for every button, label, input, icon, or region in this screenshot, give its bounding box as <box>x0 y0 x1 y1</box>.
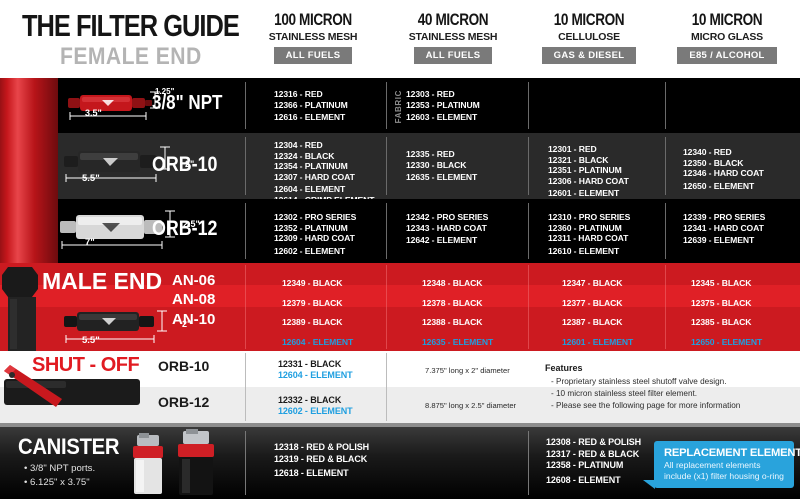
part-number: 12346 - HARD COAT <box>683 168 764 179</box>
callout-line: include (x1) filter housing o-ring <box>664 471 786 482</box>
row-label-an10: AN-10 <box>172 311 215 328</box>
column-divider <box>245 137 246 195</box>
column-material-label: CELLULOSE <box>522 31 656 43</box>
column-material-label: MICRO GLASS <box>660 31 794 43</box>
part-number: 12389 - BLACK <box>282 313 353 333</box>
part-number-element: 12650 - ELEMENT <box>691 333 762 353</box>
cell-orb10-10micron-microglass: 12340 - RED 12350 - BLACK 12346 - HARD C… <box>683 147 764 191</box>
page-subtitle: FEMALE END <box>60 43 202 71</box>
part-number-element: 12601 - ELEMENT <box>562 333 633 353</box>
cell-npt-100micron: 12316 - RED 12366 - PLATINUM 12616 - ELE… <box>274 89 348 123</box>
part-number: 12378 - BLACK <box>422 294 493 314</box>
row-orb-10: 2" 5.5" ORB-10 12304 - RED 12324 - BLACK… <box>0 133 800 199</box>
column-fuel-badge: GAS & DIESEL <box>542 47 637 64</box>
column-divider <box>245 203 246 259</box>
column-divider <box>386 82 387 129</box>
column-divider <box>665 203 666 259</box>
row-left-panel: 2.5" 7" ORB-12 <box>0 199 245 263</box>
part-number-element: 12635 - ELEMENT <box>422 333 493 353</box>
red-bottle-image <box>0 199 58 263</box>
part-number: 12347 - BLACK <box>562 274 633 294</box>
part-number-element: 12635 - ELEMENT <box>406 172 477 183</box>
replacement-elements-callout: REPLACEMENT ELEMENTS All replacement ele… <box>654 441 794 488</box>
part-number: 12318 - RED & POLISH <box>274 442 369 454</box>
part-number: 12379 - BLACK <box>282 294 353 314</box>
shutoff-dimension-orb12: 8.875" long x 2.5" diameter <box>425 401 516 410</box>
part-number: 12341 - HARD COAT <box>683 223 765 234</box>
section-label-male-end: MALE END <box>42 268 162 295</box>
row-label-orb10: ORB-10 <box>152 153 217 177</box>
column-micron-label: 40 MICRON <box>399 10 506 30</box>
column-micron-label: 10 MICRON <box>673 10 780 30</box>
cell-male-100micron: 12349 - BLACK 12379 - BLACK 12389 - BLAC… <box>282 274 353 352</box>
column-divider <box>245 265 246 349</box>
part-number: 12335 - RED <box>406 149 477 160</box>
part-number-element: 12642 - ELEMENT <box>406 235 488 246</box>
part-number: 12350 - BLACK <box>683 158 764 169</box>
dimension-length-label: 3.5" <box>85 108 102 118</box>
dimension-length-label: 5.5" <box>82 173 100 184</box>
features-item: - Please see the following page for more… <box>551 401 740 410</box>
red-bottle-image <box>0 133 58 199</box>
part-number: 12332 - BLACK <box>278 395 353 406</box>
canister-bullet: • 6.125" x 3.75" <box>24 477 90 488</box>
part-number: 12304 - RED <box>274 140 374 151</box>
cell-male-10micron-cellulose: 12347 - BLACK 12377 - BLACK 12387 - BLAC… <box>562 274 633 352</box>
column-micron-label: 100 MICRON <box>259 10 366 30</box>
dimension-lines-male <box>60 303 180 347</box>
part-number-element: 12604 - ELEMENT <box>278 370 353 381</box>
part-number: 12342 - PRO SERIES <box>406 212 488 223</box>
cell-orb12-10micron-cellulose: 12310 - PRO SERIES 12360 - PLATINUM 1231… <box>548 212 630 256</box>
cell-npt-40micron: 12303 - RED 12353 - PLATINUM 12603 - ELE… <box>406 89 480 123</box>
cell-male-40micron: 12348 - BLACK 12378 - BLACK 12388 - BLAC… <box>422 274 493 352</box>
column-divider <box>665 137 666 195</box>
row-npt-38: 1.25" 3.5" 3/8" NPT 12316 - RED 12366 - … <box>0 78 800 133</box>
part-number: 12387 - BLACK <box>562 313 633 333</box>
part-number: 12348 - BLACK <box>422 274 493 294</box>
part-number: 12354 - PLATINUM <box>274 161 374 172</box>
dimension-length-label: 5.5" <box>82 335 100 346</box>
cell-orb10-40micron: 12335 - RED 12330 - BLACK 12635 - ELEMEN… <box>406 149 477 183</box>
part-number: 12377 - BLACK <box>562 294 633 314</box>
column-divider <box>386 137 387 195</box>
section-label-shutoff: SHUT - OFF <box>32 354 139 377</box>
cell-male-10micron-microglass: 12345 - BLACK 12375 - BLACK 12385 - BLAC… <box>691 274 762 352</box>
part-number: 12360 - PLATINUM <box>548 223 630 234</box>
part-number: 12339 - PRO SERIES <box>683 212 765 223</box>
column-divider <box>528 203 529 259</box>
part-number: 12366 - PLATINUM <box>274 100 348 111</box>
cell-orb10-100micron: 12304 - RED 12324 - BLACK 12354 - PLATIN… <box>274 140 374 206</box>
canister-bullet: • 3/8" NPT ports. <box>24 463 95 474</box>
features-item: - Proprietary stainless steel shutoff va… <box>551 377 727 386</box>
column-divider <box>665 82 666 129</box>
part-number: 12351 - PLATINUM <box>548 165 629 176</box>
part-number-element: 12618 - ELEMENT <box>274 468 369 480</box>
part-number-element: 12639 - ELEMENT <box>683 235 765 246</box>
column-material-label: STAINLESS MESH <box>386 31 520 43</box>
cell-orb12-40micron: 12342 - PRO SERIES 12343 - HARD COAT 126… <box>406 212 488 246</box>
column-header-100-micron: 100 MICRON STAINLESS MESH ALL FUELS <box>246 10 380 64</box>
part-number: 12343 - HARD COAT <box>406 223 488 234</box>
cell-orb12-10micron-microglass: 12339 - PRO SERIES 12341 - HARD COAT 126… <box>683 212 765 246</box>
part-number-element: 12602 - ELEMENT <box>278 406 353 417</box>
features-item: - 10 micron stainless steel filter eleme… <box>551 389 697 398</box>
row-orb-12: 2.5" 7" ORB-12 12302 - PRO SERIES 12352 … <box>0 199 800 263</box>
canister-image-black <box>168 429 224 497</box>
column-divider <box>528 265 529 349</box>
part-number: 12310 - PRO SERIES <box>548 212 630 223</box>
part-number: 12385 - BLACK <box>691 313 762 333</box>
column-material-label: STAINLESS MESH <box>246 31 380 43</box>
part-number: 12316 - RED <box>274 89 348 100</box>
column-divider <box>665 265 666 349</box>
row-label-shutoff-orb12: ORB-12 <box>158 394 209 410</box>
cell-orb10-10micron-cellulose: 12301 - RED 12321 - BLACK 12351 - PLATIN… <box>548 144 629 199</box>
part-number: 12321 - BLACK <box>548 155 629 166</box>
part-number-element: 12604 - ELEMENT <box>282 333 353 353</box>
part-number: 12358 - PLATINUM <box>546 460 641 472</box>
cell-shutoff-orb10: 12331 - BLACK 12604 - ELEMENT <box>278 359 353 380</box>
section-canister: CANISTER • 3/8" NPT ports. • 6.125" x 3.… <box>0 427 800 499</box>
row-left-panel: 2" 5.5" ORB-10 <box>0 133 245 199</box>
cell-canister-100micron: 12318 - RED & POLISH 12319 - RED & BLACK… <box>274 442 369 480</box>
part-number: 12309 - HARD COAT <box>274 233 356 244</box>
row-label-an06: AN-06 <box>172 272 215 289</box>
cell-canister-10micron-cellulose: 12308 - RED & POLISH 12317 - RED & BLACK… <box>546 437 641 486</box>
part-number: 12330 - BLACK <box>406 160 477 171</box>
part-number-element: 12610 - ELEMENT <box>548 246 630 257</box>
column-divider <box>245 431 246 495</box>
column-divider <box>386 353 387 421</box>
part-number: 12302 - PRO SERIES <box>274 212 356 223</box>
cell-shutoff-orb12: 12332 - BLACK 12602 - ELEMENT <box>278 395 353 416</box>
column-header-10-micron-cellulose: 10 MICRON CELLULOSE GAS & DIESEL <box>522 10 656 64</box>
row-label-shutoff-orb10: ORB-10 <box>158 358 209 374</box>
part-number-element: 12602 - ELEMENT <box>274 246 356 257</box>
part-number: 12331 - BLACK <box>278 359 353 370</box>
canister-image-polish <box>123 433 173 497</box>
column-divider <box>528 137 529 195</box>
part-number: 12375 - BLACK <box>691 294 762 314</box>
fabric-tag: FABRIC <box>394 90 403 123</box>
part-number: 12317 - RED & BLACK <box>546 449 641 461</box>
page-title: THE FILTER GUIDE <box>22 8 239 44</box>
part-number: 12353 - PLATINUM <box>406 100 480 111</box>
part-number-element: 12650 - ELEMENT <box>683 181 764 192</box>
column-divider <box>386 203 387 259</box>
callout-line: All replacement elements <box>664 460 786 471</box>
part-number-element: 12603 - ELEMENT <box>406 112 480 123</box>
part-number-element: 12608 - ELEMENT <box>546 475 641 487</box>
part-number-element: 12604 - ELEMENT <box>274 184 374 195</box>
column-divider <box>528 82 529 129</box>
column-divider <box>245 82 246 129</box>
callout-title: REPLACEMENT ELEMENTS <box>664 447 786 459</box>
row-label-an08: AN-08 <box>172 291 215 308</box>
section-male-end: 2" 5.5" MALE END AN-06 AN-08 AN-10 12349… <box>0 263 800 351</box>
filter-guide-page: THE FILTER GUIDE FEMALE END 100 MICRON S… <box>0 0 800 499</box>
column-fuel-badge: ALL FUELS <box>414 47 493 64</box>
column-divider <box>528 431 529 495</box>
column-divider <box>386 265 387 349</box>
page-header: THE FILTER GUIDE FEMALE END 100 MICRON S… <box>0 0 800 78</box>
row-left-panel: 1.25" 3.5" 3/8" NPT <box>0 78 245 133</box>
part-number: 12308 - RED & POLISH <box>546 437 641 449</box>
column-divider <box>245 353 246 421</box>
cell-orb12-100micron: 12302 - PRO SERIES 12352 - PLATINUM 1230… <box>274 212 356 256</box>
part-number: 12352 - PLATINUM <box>274 223 356 234</box>
part-number-element: 12616 - ELEMENT <box>274 112 348 123</box>
shutoff-left-panel: SHUT - OFF ORB-10 ORB-12 <box>0 351 245 423</box>
part-number: 12388 - BLACK <box>422 313 493 333</box>
section-shutoff: SHUT - OFF ORB-10 ORB-12 12331 - BLACK 1… <box>0 351 800 423</box>
red-bottle-image <box>0 78 58 133</box>
part-number: 12301 - RED <box>548 144 629 155</box>
part-number: 12324 - BLACK <box>274 151 374 162</box>
part-number-element: 12601 - ELEMENT <box>548 188 629 199</box>
row-label-orb12: ORB-12 <box>152 217 217 241</box>
dimension-length-label: 7" <box>85 237 95 248</box>
column-micron-label: 10 MICRON <box>535 10 642 30</box>
part-number: 12303 - RED <box>406 89 480 100</box>
section-label-canister: CANISTER <box>18 434 119 460</box>
part-number: 12349 - BLACK <box>282 274 353 294</box>
shutoff-dimension-orb10: 7.375" long x 2" diameter <box>425 366 510 375</box>
features-heading: Features <box>545 363 583 373</box>
column-header-10-micron-microglass: 10 MICRON MICRO GLASS E85 / ALCOHOL <box>660 10 794 64</box>
part-number: 12345 - BLACK <box>691 274 762 294</box>
row-label-npt: 3/8" NPT <box>152 92 222 115</box>
part-number: 12319 - RED & BLACK <box>274 454 369 466</box>
part-number: 12307 - HARD COAT <box>274 172 374 183</box>
part-number: 12311 - HARD COAT <box>548 233 630 244</box>
column-fuel-badge: E85 / ALCOHOL <box>677 47 776 64</box>
column-header-40-micron: 40 MICRON STAINLESS MESH ALL FUELS <box>386 10 520 64</box>
part-number: 12340 - RED <box>683 147 764 158</box>
column-fuel-badge: ALL FUELS <box>274 47 353 64</box>
part-number: 12306 - HARD COAT <box>548 176 629 187</box>
